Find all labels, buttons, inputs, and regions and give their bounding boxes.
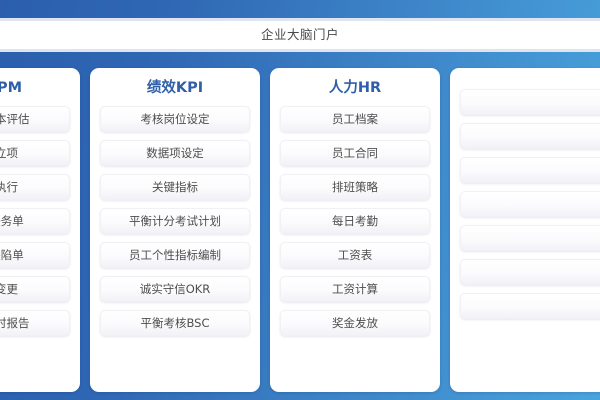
module-item-bonus-distribution[interactable]: 奖金发放 [280,310,430,336]
module-columns-container: 项目PM 项目成本评估 项目立项 项目执行 项目任务单 项目缺陷单 项目变更 项… [0,68,600,394]
module-item-project-timesheet-report[interactable]: 项目工时报告 [0,310,70,336]
module-column-performance-kpi[interactable]: 绩效KPI 考核岗位设定 数据项设定 关键指标 平衡计分考试计划 员工个性指标编… [90,68,260,392]
module-column-human-resources[interactable]: 人力HR 员工档案 员工合同 排班策略 每日考勤 工资表 工资计算 奖金发放 [270,68,440,392]
module-column-title-performance-kpi: 绩效KPI [100,80,250,97]
module-item-balanced-scorecard-exam-plan[interactable]: 平衡计分考试计划 [100,208,250,234]
module-item-project-task-order[interactable]: 项目任务单 [0,208,70,234]
page-title: 企业大脑门户 [261,29,339,42]
module-item-employee-personal-indicator-setup[interactable]: 员工个性指标编制 [100,242,250,268]
module-item-project-change[interactable]: 项目变更 [0,276,70,302]
module-item[interactable] [460,157,600,183]
module-column-project-pm[interactable]: 项目PM 项目成本评估 项目立项 项目执行 项目任务单 项目缺陷单 项目变更 项… [0,68,80,392]
module-item[interactable] [460,293,600,319]
module-item-project-cost-evaluation[interactable]: 项目成本评估 [0,106,70,132]
module-item-shift-strategy[interactable]: 排班策略 [280,174,430,200]
module-item-daily-attendance[interactable]: 每日考勤 [280,208,430,234]
portal-header-bar: 企业大脑门户 [0,18,600,52]
module-item-project-initiation[interactable]: 项目立项 [0,140,70,166]
module-column-title-human-resources: 人力HR [280,80,430,97]
module-item-integrity-okr[interactable]: 诚实守信OKR [100,276,250,302]
module-column-partial-right[interactable] [450,68,600,392]
module-item[interactable] [460,259,600,285]
module-item[interactable] [460,191,600,217]
module-item-assessment-position-setting[interactable]: 考核岗位设定 [100,106,250,132]
module-item[interactable] [460,123,600,149]
module-item-project-execution[interactable]: 项目执行 [0,174,70,200]
module-item-data-item-setting[interactable]: 数据项设定 [100,140,250,166]
module-item-balanced-assessment-bsc[interactable]: 平衡考核BSC [100,310,250,336]
module-item-key-indicators[interactable]: 关键指标 [100,174,250,200]
module-item[interactable] [460,225,600,251]
module-item-payroll-table[interactable]: 工资表 [280,242,430,268]
module-item-employee-records[interactable]: 员工档案 [280,106,430,132]
module-item-payroll-calculation[interactable]: 工资计算 [280,276,430,302]
module-column-title-project-pm: 项目PM [0,80,70,97]
module-item-project-defect-order[interactable]: 项目缺陷单 [0,242,70,268]
module-item[interactable] [460,89,600,115]
module-item-employee-contract[interactable]: 员工合同 [280,140,430,166]
